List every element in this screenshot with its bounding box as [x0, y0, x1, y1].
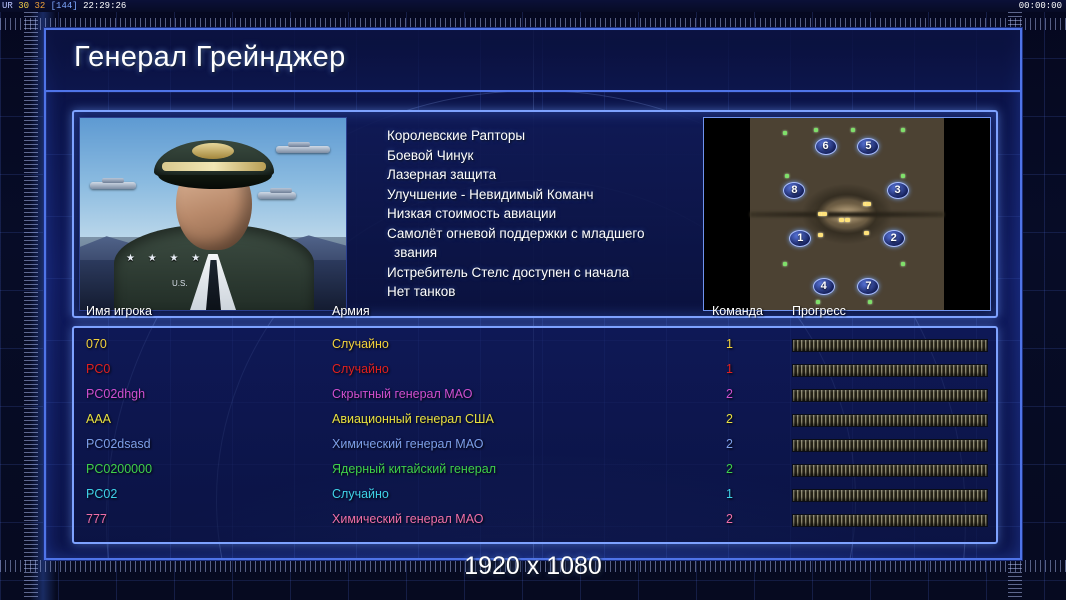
player-army: Химический генерал МАО — [332, 437, 483, 451]
player-army: Скрытный генерал МАО — [332, 387, 472, 401]
table-row[interactable]: PC02dsasdХимический генерал МАО2 — [74, 434, 996, 459]
player-progress-bar — [792, 389, 988, 402]
map-supply-icon — [864, 231, 869, 235]
player-team: 2 — [726, 412, 733, 426]
ability-line: Низкая стоимость авиации — [387, 204, 703, 224]
map-start-position-6[interactable]: 6 — [815, 138, 837, 155]
player-army: Случайно — [332, 487, 389, 501]
player-army: Случайно — [332, 362, 389, 376]
ability-line: Истребитель Стелс доступен с начала — [387, 263, 703, 283]
map-start-position-4[interactable]: 4 — [813, 278, 835, 295]
fps-value-b: 32 — [34, 1, 45, 11]
window-titlebar: Генерал Грейнджер — [46, 30, 1020, 92]
aircraft-icon — [276, 146, 330, 153]
cap-eagle-insignia-icon — [192, 143, 234, 159]
player-progress-bar — [792, 489, 988, 502]
general-info-window: Генерал Грейнджер ★ ★ ★ ★ U.S. Королевск… — [44, 28, 1022, 560]
player-name: PC02dhgh — [86, 387, 145, 401]
fps-bracket: [144] — [51, 1, 78, 11]
aircraft-icon — [90, 182, 136, 189]
player-team: 1 — [726, 337, 733, 351]
player-army: Химический генерал МАО — [332, 512, 483, 526]
rank-stars: ★ ★ ★ ★ — [126, 253, 205, 264]
page-title: Генерал Грейнджер — [74, 41, 346, 74]
general-abilities-list: Королевские РапторыБоевой ЧинукЛазерная … — [387, 126, 703, 302]
map-resource-icon — [901, 262, 905, 266]
fps-value-a: 30 — [18, 1, 29, 11]
map-supply-icon — [822, 212, 827, 216]
table-row[interactable]: 777Химический генерал МАО2 — [74, 509, 996, 534]
player-name: 777 — [86, 512, 107, 526]
player-progress-bar — [792, 439, 988, 452]
table-row[interactable]: PC02Случайно1 — [74, 484, 996, 509]
map-resource-icon — [851, 128, 855, 132]
ability-line: Нет танков — [387, 282, 703, 302]
player-progress-bar — [792, 464, 988, 477]
player-progress-bar — [792, 414, 988, 427]
uniform-us-tag: U.S. — [172, 279, 188, 288]
map-supply-icon — [839, 218, 844, 222]
ability-line: Самолёт огневой поддержки с младшего — [387, 224, 703, 244]
player-team: 2 — [726, 437, 733, 451]
player-team: 1 — [726, 487, 733, 501]
map-resource-icon — [814, 128, 818, 132]
resolution-label: 1920 x 1080 — [0, 552, 1066, 581]
map-start-position-3[interactable]: 3 — [887, 182, 909, 199]
player-team: 1 — [726, 362, 733, 376]
map-preview[interactable]: 12345678 — [703, 117, 991, 311]
map-start-position-2[interactable]: 2 — [883, 230, 905, 247]
map-supply-icon — [845, 218, 850, 222]
player-list-panel: Имя игрока Армия Команда Прогресс 070Слу… — [72, 326, 998, 544]
player-name: PC02dsasd — [86, 437, 151, 451]
mission-timer: 00:00:00 — [1019, 0, 1062, 12]
map-resource-icon — [785, 174, 789, 178]
player-team: 2 — [726, 462, 733, 476]
fps-prefix: UR — [2, 1, 13, 11]
cap-scrambled-eggs-icon — [162, 162, 266, 171]
player-team: 2 — [726, 387, 733, 401]
general-abilities-wrap: Королевские РапторыБоевой ЧинукЛазерная … — [347, 112, 703, 316]
table-row[interactable]: PC0Случайно1 — [74, 359, 996, 384]
ability-line: Королевские Рапторы — [387, 126, 703, 146]
player-progress-bar — [792, 364, 988, 377]
table-row[interactable]: 070Случайно1 — [74, 334, 996, 359]
general-portrait: ★ ★ ★ ★ U.S. — [79, 117, 347, 311]
fps-readout: UR 30 32 [144] 22:29:26 — [2, 0, 126, 12]
ability-line: Улучшение - Невидимый Команч — [387, 185, 703, 205]
header-army: Армия — [332, 304, 370, 318]
player-name: PC02 — [86, 487, 117, 501]
map-resource-icon — [783, 131, 787, 135]
map-start-position-5[interactable]: 5 — [857, 138, 879, 155]
map-supply-icon — [818, 233, 823, 237]
ability-line: Боевой Чинук — [387, 146, 703, 166]
player-list-header: Имя игрока Армия Команда Прогресс — [74, 304, 996, 326]
map-resource-icon — [783, 262, 787, 266]
player-name: PC0 — [86, 362, 110, 376]
player-progress-bar — [792, 514, 988, 527]
player-name: AAA — [86, 412, 111, 426]
player-army: Ядерный китайский генерал — [332, 462, 496, 476]
ability-line: звания — [387, 243, 703, 263]
table-row[interactable]: AAAАвиационный генерал США2 — [74, 409, 996, 434]
ability-line: Лазерная защита — [387, 165, 703, 185]
header-player-name: Имя игрока — [86, 304, 152, 318]
map-resource-icon — [901, 128, 905, 132]
debug-overlay-bar: UR 30 32 [144] 22:29:26 00:00:00 — [0, 0, 1066, 12]
player-team: 2 — [726, 512, 733, 526]
player-army: Авиационный генерал США — [332, 412, 494, 426]
player-name: PC0200000 — [86, 462, 152, 476]
header-progress: Прогресс — [792, 304, 846, 318]
player-progress-bar — [792, 339, 988, 352]
table-row[interactable]: PC0200000Ядерный китайский генерал2 — [74, 459, 996, 484]
map-river — [750, 212, 945, 217]
general-info-panel: ★ ★ ★ ★ U.S. Королевские РапторыБоевой Ч… — [72, 110, 998, 318]
player-name: 070 — [86, 337, 107, 351]
player-army: Случайно — [332, 337, 389, 351]
debug-clock: 22:29:26 — [83, 1, 126, 11]
table-row[interactable]: PC02dhghСкрытный генерал МАО2 — [74, 384, 996, 409]
aircraft-icon — [258, 192, 296, 199]
header-team: Команда — [712, 304, 763, 318]
map-resource-icon — [901, 174, 905, 178]
